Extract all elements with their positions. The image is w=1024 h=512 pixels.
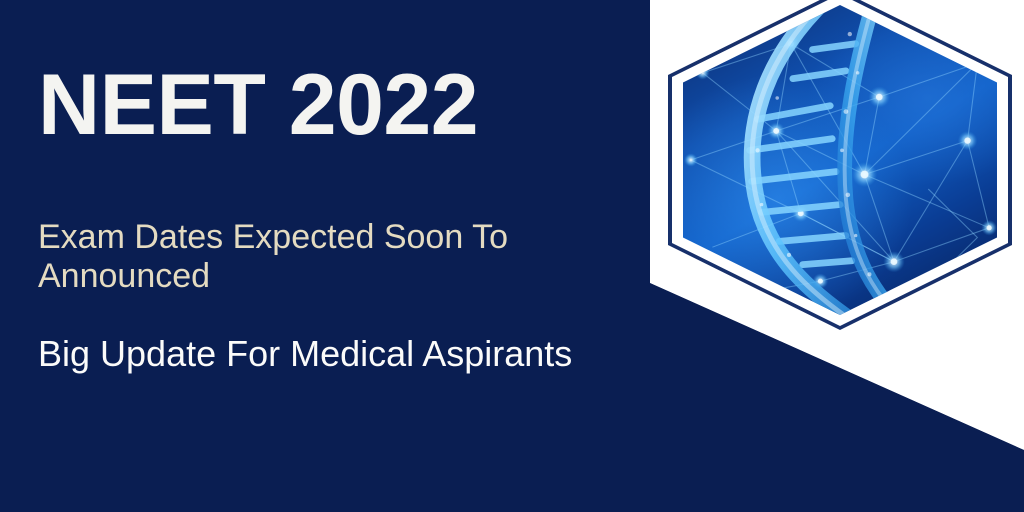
hexagon-frame xyxy=(668,0,1012,330)
tagline-text: Big Update For Medical Aspirants xyxy=(38,333,628,374)
page-title: NEET 2022 xyxy=(38,62,478,148)
neet-2022-banner: NEET 2022 Exam Dates Expected Soon To An… xyxy=(0,0,1024,512)
subheadline-text: Exam Dates Expected Soon To Announced xyxy=(38,218,628,296)
banner-text-column: NEET 2022 Exam Dates Expected Soon To An… xyxy=(38,0,638,512)
